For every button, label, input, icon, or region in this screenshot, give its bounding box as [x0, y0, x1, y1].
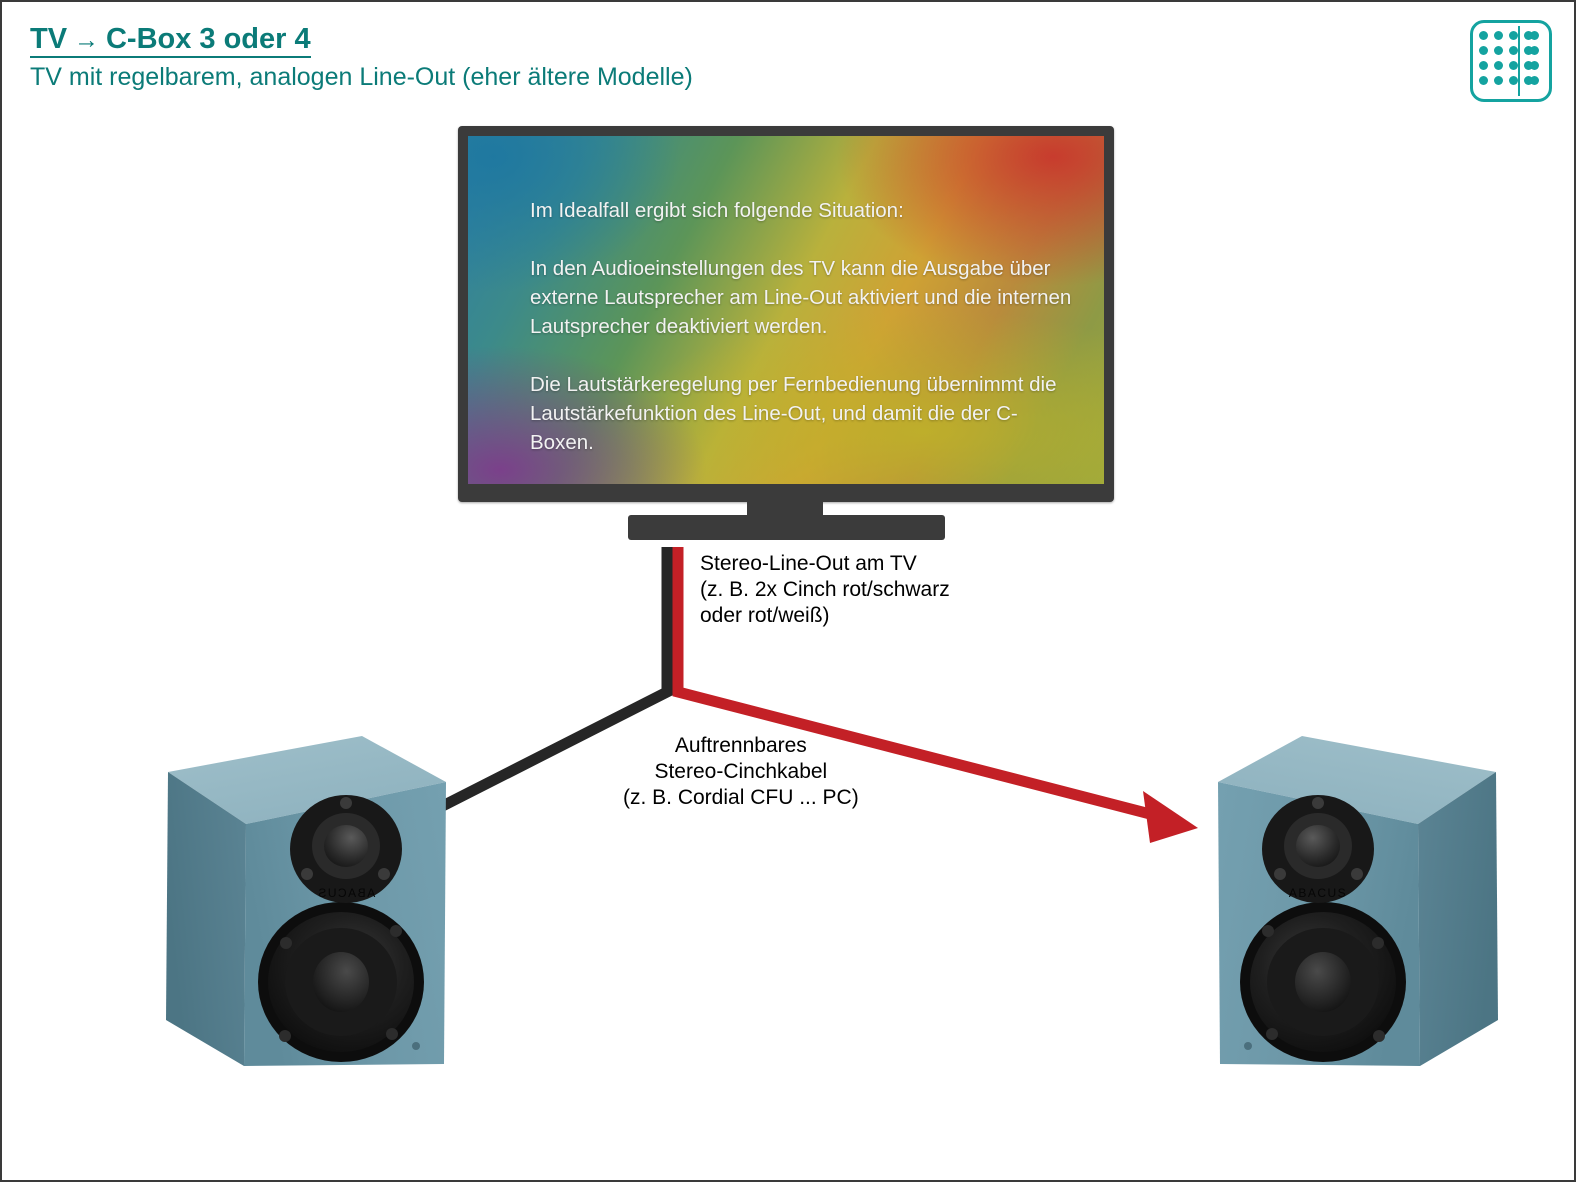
led-indicator	[412, 1042, 420, 1050]
led-indicator	[1244, 1042, 1252, 1050]
speaker-brand-right: ABACUS	[1289, 886, 1347, 900]
cable-red-arrowhead	[1143, 791, 1198, 843]
split-cable-label: Auftrennbares Stereo-Cinchkabel (z. B. C…	[623, 733, 859, 811]
cabinet-side	[166, 772, 246, 1066]
lineout-label: Stereo-Line-Out am TV (z. B. 2x Cinch ro…	[700, 551, 950, 629]
speaker-brand-left: ABACUS	[317, 886, 375, 900]
diagram-page: TV → C-Box 3 oder 4 TV mit regelbarem, a…	[0, 0, 1576, 1182]
c-box-speaker-right: ABACUS	[1206, 724, 1558, 1074]
c-box-speaker-left: ABACUS	[106, 724, 458, 1074]
cabinet-side	[1418, 772, 1498, 1066]
